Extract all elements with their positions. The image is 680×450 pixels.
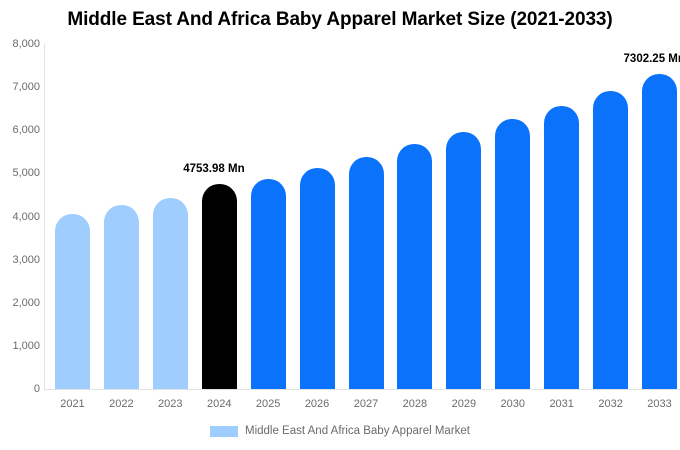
legend-swatch-icon [210,426,238,437]
x-axis-tick-label: 2030 [485,398,540,410]
bar[interactable] [642,74,677,389]
x-axis-tick-label: 2032 [583,398,638,410]
x-axis-tick-label: 2022 [94,398,149,410]
x-axis-tick-label: 2025 [241,398,296,410]
x-axis-tick-label: 2026 [290,398,345,410]
y-axis-tick-label: 5,000 [2,167,40,179]
legend-label: Middle East And Africa Baby Apparel Mark… [245,425,470,437]
x-axis-tick-label: 2024 [192,398,247,410]
y-axis-tick-label: 4,000 [2,211,40,223]
bar[interactable] [544,106,579,389]
bar-value-label: 4753.98 Mn [183,163,244,175]
bar-value-label: 7302.25 Mn [624,53,680,65]
bar[interactable] [202,184,237,389]
y-axis-tick-label: 1,000 [2,340,40,352]
x-axis-tick-label: 2029 [436,398,491,410]
y-axis-tick-label: 2,000 [2,297,40,309]
y-axis-tick-label: 8,000 [2,38,40,50]
y-axis-tick-label: 6,000 [2,124,40,136]
y-axis-tick-label: 0 [2,383,40,395]
bar[interactable] [349,157,384,389]
chart-legend: Middle East And Africa Baby Apparel Mark… [0,425,680,437]
x-axis-tick-label: 2028 [387,398,442,410]
plot-area [44,44,680,389]
x-axis-tick-label: 2027 [339,398,394,410]
bar[interactable] [300,168,335,389]
x-axis-line [44,389,680,390]
bar-chart: Middle East And Africa Baby Apparel Mark… [0,0,680,450]
y-axis-tick-label: 7,000 [2,81,40,93]
bar[interactable] [251,179,286,389]
x-axis-tick-label: 2031 [534,398,589,410]
bar[interactable] [446,132,481,389]
bar[interactable] [495,119,530,389]
x-axis-tick-label: 2021 [45,398,100,410]
bar[interactable] [397,144,432,389]
bar[interactable] [153,198,188,389]
bar[interactable] [593,91,628,389]
x-axis-tick-label: 2023 [143,398,198,410]
bar[interactable] [104,205,139,389]
y-axis-tick-label: 3,000 [2,254,40,266]
x-axis-tick-label: 2033 [632,398,680,410]
y-axis: 01,0002,0003,0004,0005,0006,0007,0008,00… [0,0,40,450]
chart-title: Middle East And Africa Baby Apparel Mark… [0,9,680,31]
bar[interactable] [55,214,90,389]
